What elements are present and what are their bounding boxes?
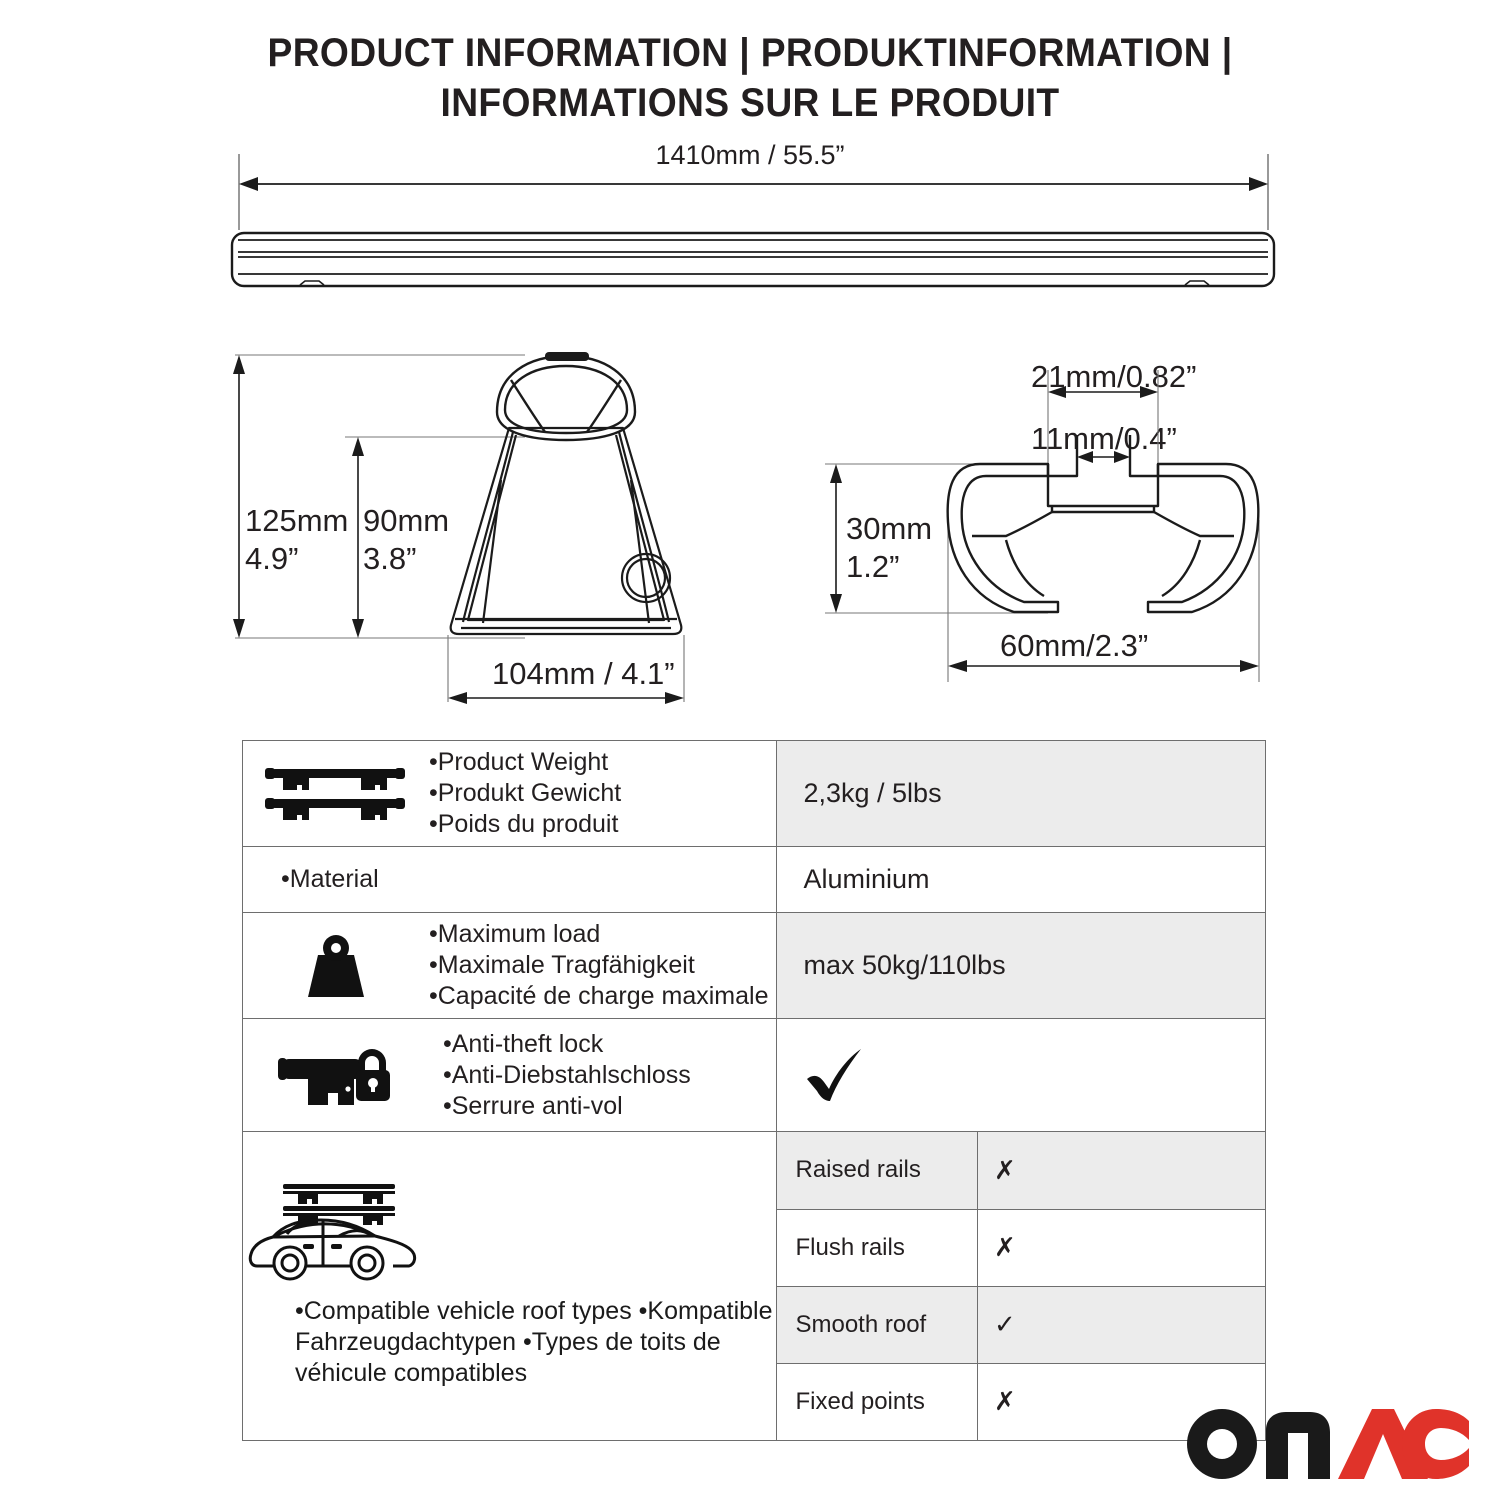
roof-type-mark: ✗ (977, 1209, 1265, 1286)
lock-icon (243, 1037, 429, 1113)
weight-value: 2,3kg / 5lbs (777, 778, 1265, 809)
bullet: •Anti-theft lock (443, 1029, 768, 1060)
omac-logo-mark (1180, 1408, 1470, 1480)
bullet: •Capacité de charge maximale (429, 981, 768, 1012)
bullet: •Anti-Diebstahlschloss (443, 1060, 768, 1091)
omac-logo (1180, 1408, 1470, 1480)
row-label-cell: •Anti-theft lock •Anti-Diebstahlschloss … (243, 1019, 777, 1132)
table-row: •Anti-theft lock •Anti-Diebstahlschloss … (243, 1019, 1266, 1132)
car-with-rack-icon (243, 1170, 776, 1288)
table-row: •Product Weight •Produkt Gewicht •Poids … (243, 741, 1266, 847)
check-icon (777, 1043, 1265, 1107)
bullet: •Product Weight (429, 747, 768, 778)
bullet: •Maximum load (429, 919, 768, 950)
bar-length-label: 1410mm / 55.5” (0, 140, 1500, 171)
maxload-bullets: •Maximum load •Maximale Tragfähigkeit •C… (429, 913, 776, 1018)
row-value-cell: 2,3kg / 5lbs (777, 741, 1266, 847)
roof-type-label: Smooth roof (777, 1286, 977, 1363)
middle-diagrams: 125mm 4.9” 90mm 3.8” 104mm / 4.1” (0, 340, 1500, 710)
compatibility-bullets: •Compatible vehicle roof types •Kompatib… (243, 1288, 776, 1403)
roof-type-label: Fixed points (777, 1363, 977, 1440)
maxload-value: max 50kg/110lbs (777, 950, 1265, 981)
bullet: compatibles (394, 1359, 527, 1387)
row-label-cell: •Maximum load •Maximale Tragfähigkeit •C… (243, 913, 777, 1019)
table-row: •Material Aluminium (243, 847, 1266, 913)
bullet: •Poids du produit (429, 809, 768, 840)
bullet: •Material (281, 864, 768, 895)
table-row: •Maximum load •Maximale Tragfähigkeit •C… (243, 913, 1266, 1019)
row-value-cell (777, 1019, 1266, 1132)
table-row-compatibility: •Compatible vehicle roof types •Kompatib… (243, 1132, 1266, 1441)
roof-type-label: Flush rails (777, 1209, 977, 1286)
page-title: PRODUCT INFORMATION | PRODUKTINFORMATION… (0, 28, 1500, 128)
roof-type-row: Raised rails ✗ (777, 1132, 1265, 1209)
row-value-cell: Aluminium (777, 847, 1266, 913)
roof-type-mark: ✓ (977, 1286, 1265, 1363)
profile-cross-section (800, 340, 1300, 710)
roof-type-row: Smooth roof ✓ (777, 1286, 1265, 1363)
compatibility-value-cell: Raised rails ✗ Flush rails ✗ Smooth roof… (777, 1132, 1266, 1441)
crossbar-length-diagram: 1410mm / 55.5” (0, 140, 1500, 320)
crossbars-icon (243, 763, 429, 825)
roof-type-table: Raised rails ✗ Flush rails ✗ Smooth roof… (777, 1132, 1265, 1440)
bullet: •Serrure anti-vol (443, 1091, 768, 1122)
row-label-cell: •Product Weight •Produkt Gewicht •Poids … (243, 741, 777, 847)
material-bullets: •Material (243, 858, 776, 901)
product-spec-table: •Product Weight •Produkt Gewicht •Poids … (242, 740, 1266, 1441)
bullet: •Maximale Tragfähigkeit (429, 950, 768, 981)
row-value-cell: max 50kg/110lbs (777, 913, 1266, 1019)
lock-bullets: •Anti-theft lock •Anti-Diebstahlschloss … (429, 1023, 776, 1128)
material-value: Aluminium (777, 864, 1265, 895)
weight-bullets: •Product Weight •Produkt Gewicht •Poids … (429, 741, 776, 846)
foot-side-view (225, 340, 725, 710)
weight-icon (243, 931, 429, 1001)
bullet: •Produkt Gewicht (429, 778, 768, 809)
title-line-2: INFORMATIONS SUR LE PRODUIT (53, 78, 1448, 128)
roof-type-label: Raised rails (777, 1132, 977, 1209)
roof-type-mark: ✗ (977, 1132, 1265, 1209)
roof-type-row: Flush rails ✗ (777, 1209, 1265, 1286)
row-label-cell: •Material (243, 847, 777, 913)
bullet: •Compatible vehicle roof types (295, 1297, 632, 1325)
compatibility-label-cell: •Compatible vehicle roof types •Kompatib… (243, 1132, 777, 1441)
title-line-1: PRODUCT INFORMATION | PRODUKTINFORMATION… (53, 28, 1448, 78)
